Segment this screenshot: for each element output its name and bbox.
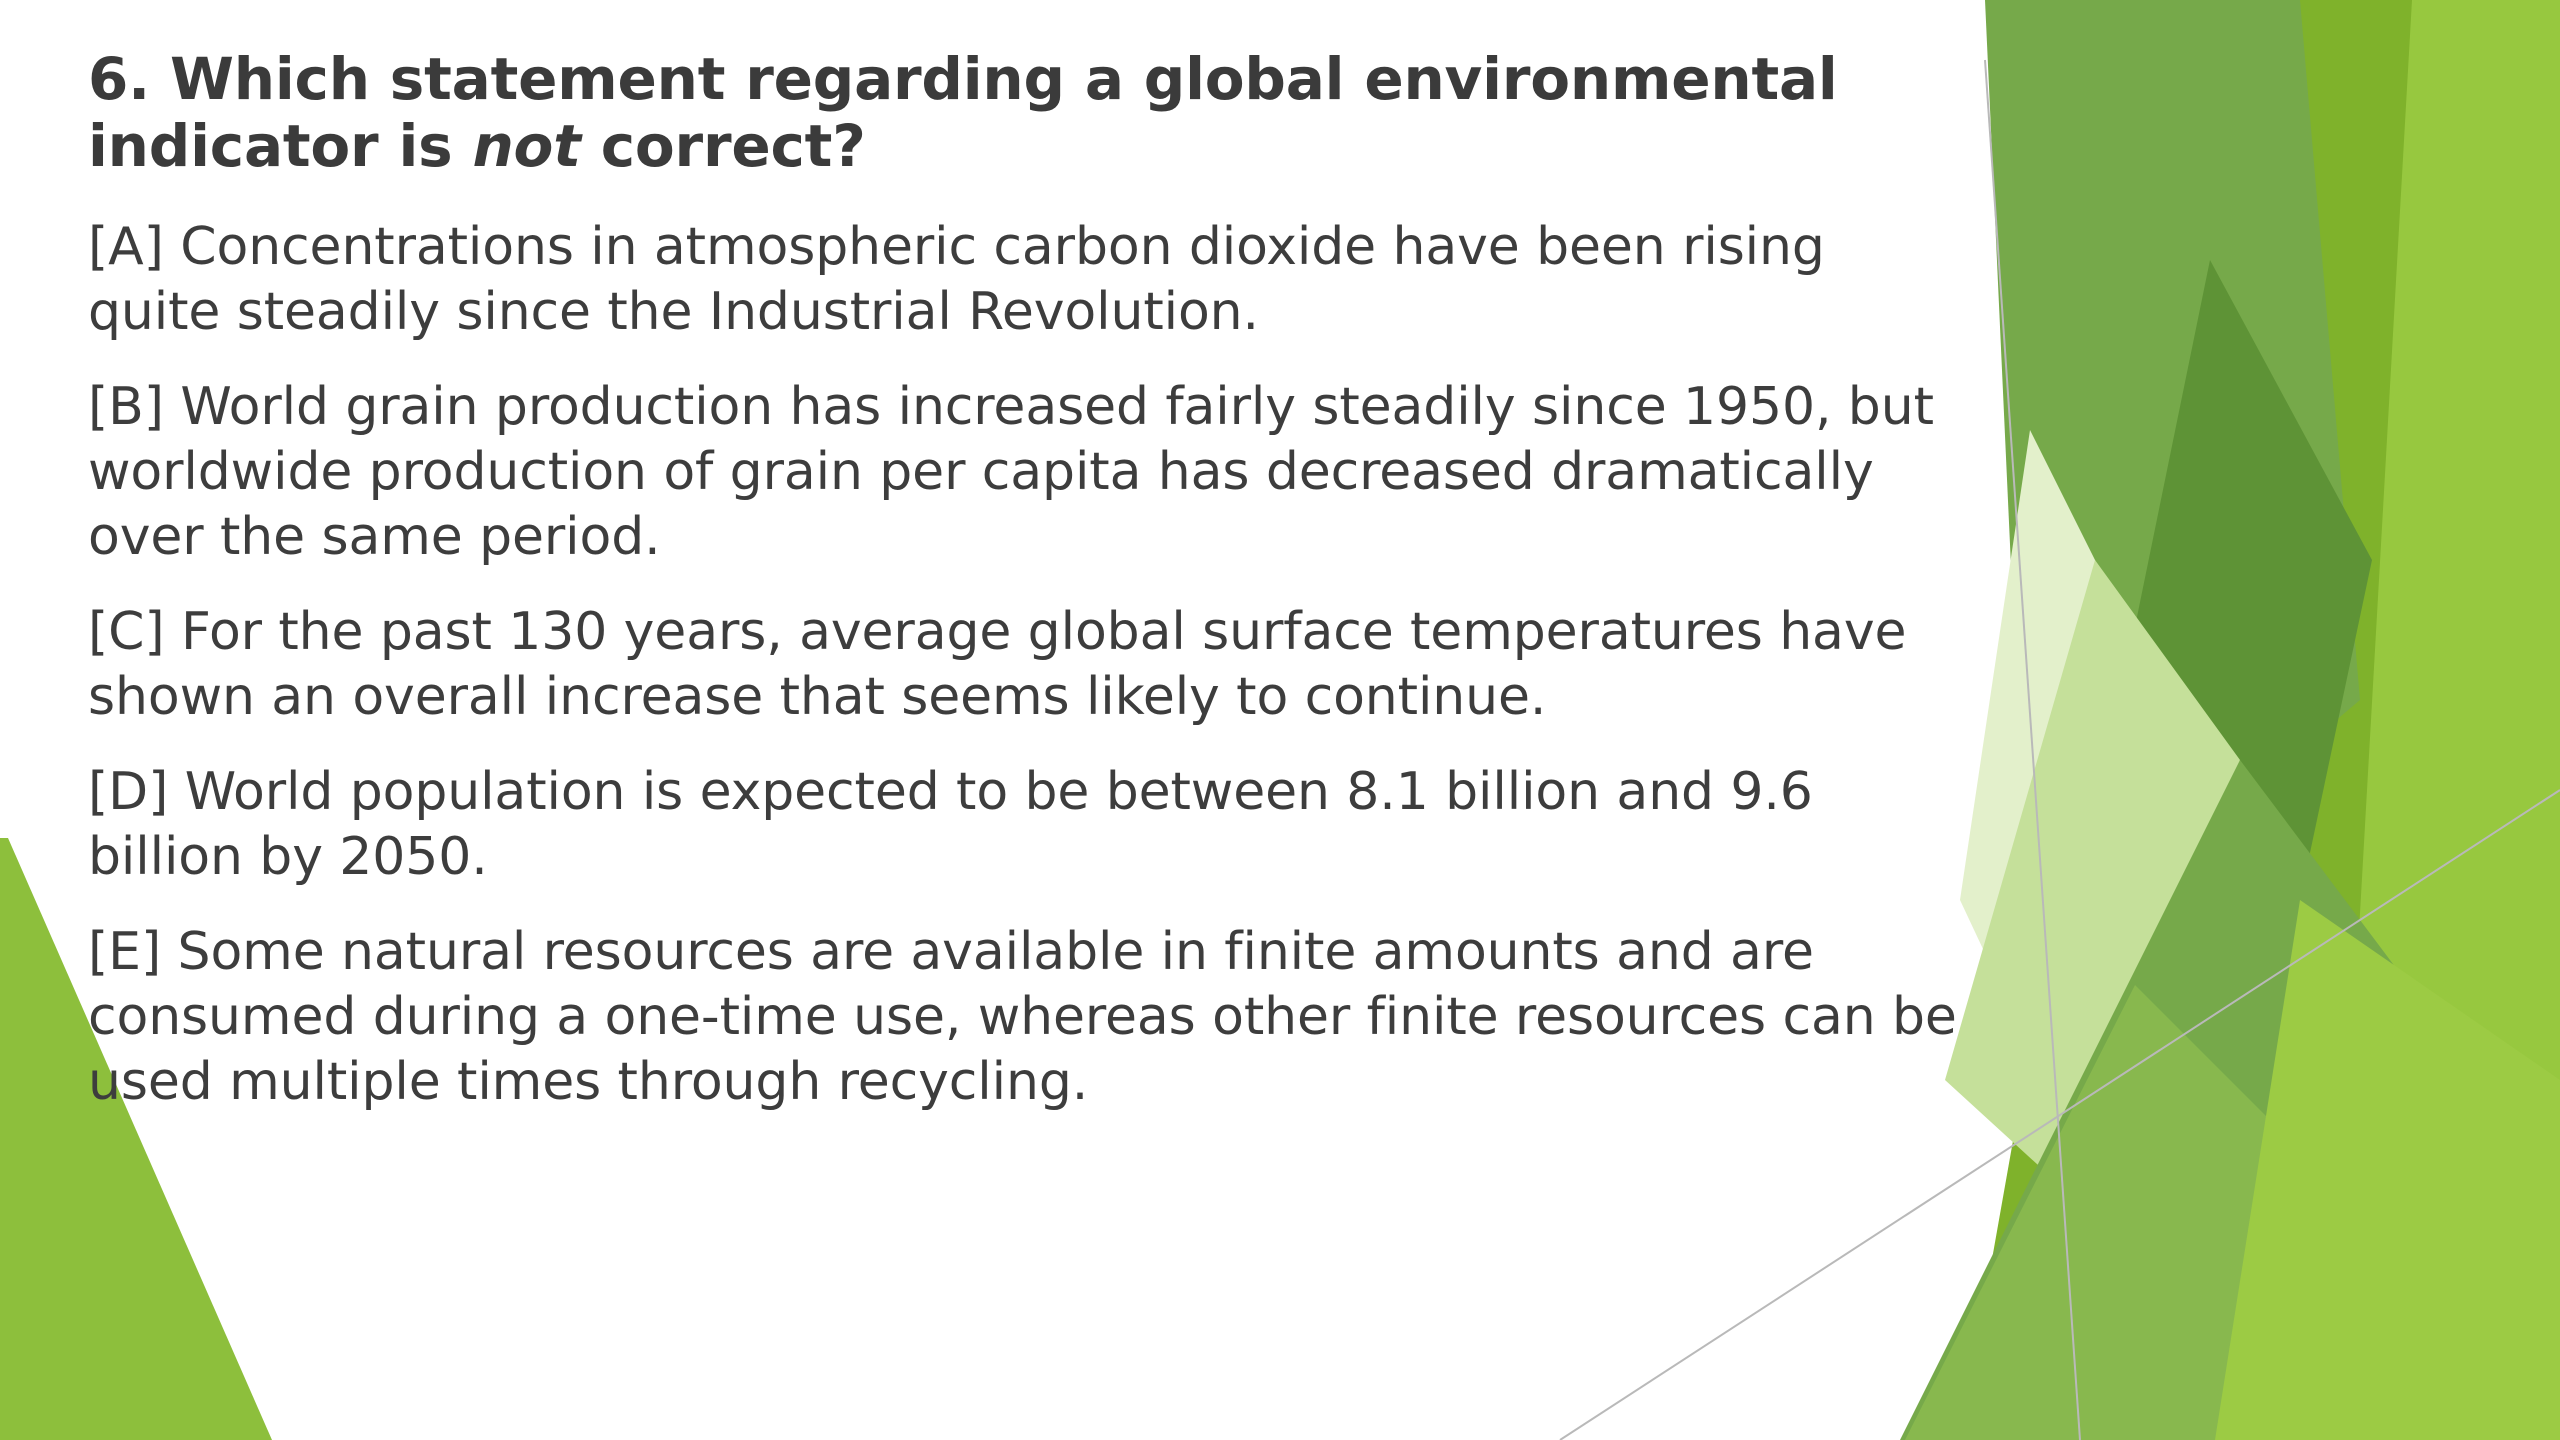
question-title: 6. Which statement regarding a global en… — [88, 46, 1968, 181]
bottom-right-bright — [2215, 900, 2560, 1440]
choice-b[interactable]: [B] World grain production has increased… — [88, 375, 1968, 570]
pale-sliver-upper — [1960, 430, 2135, 1060]
top-right-green-panel — [1985, 0, 2360, 980]
choice-a[interactable]: [A] Concentrations in atmospheric carbon… — [88, 215, 1968, 345]
hairline-diagonal-1 — [1985, 60, 2080, 1440]
dark-green-facet — [2120, 260, 2372, 900]
question-prefix: 6. Which statement regarding a global en… — [88, 45, 1838, 180]
light-green-wedge — [1945, 560, 2240, 1240]
choice-c[interactable]: [C] For the past 130 years, average glob… — [88, 600, 1968, 730]
question-suffix: correct? — [581, 112, 866, 180]
lower-light-overlay — [1905, 985, 2330, 1440]
slide-canvas: 6. Which statement regarding a global en… — [0, 0, 2560, 1440]
choice-e[interactable]: [E] Some natural resources are available… — [88, 920, 1968, 1115]
right-olive-band — [1960, 0, 2412, 1440]
choice-d[interactable]: [D] World population is expected to be b… — [88, 760, 1968, 890]
right-bright-slab — [2150, 0, 2560, 1440]
slide-content-body: 6. Which statement regarding a global en… — [88, 46, 1968, 1115]
lower-green-diagonal — [1900, 760, 2420, 1440]
question-emphasis-not: not — [472, 112, 580, 180]
